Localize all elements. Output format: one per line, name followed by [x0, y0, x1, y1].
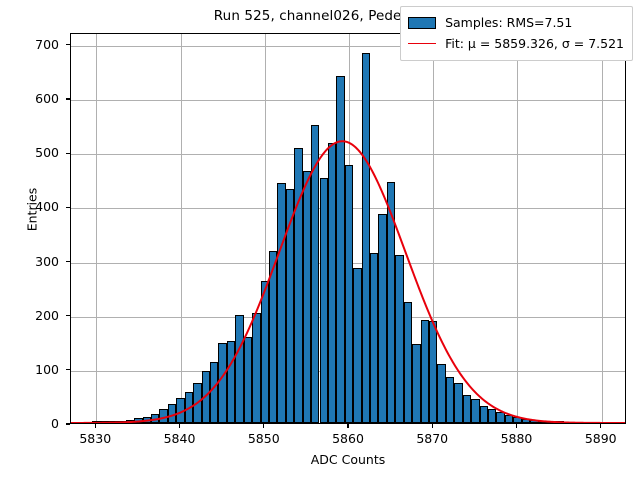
x-axis-tick-mark: [432, 424, 433, 428]
y-axis-tick-mark: [66, 369, 70, 370]
y-axis-tick-mark: [66, 153, 70, 154]
y-axis-tick-mark: [66, 207, 70, 208]
legend-label-samples: Samples: RMS=7.51: [445, 15, 572, 30]
legend: Samples: RMS=7.51 Fit: μ = 5859.326, σ =…: [400, 6, 633, 61]
gaussian-fit-curve: [71, 34, 625, 423]
y-axis-tick-label: 700: [0, 37, 59, 52]
y-axis-tick-label: 100: [0, 362, 59, 377]
x-axis-tick-mark: [179, 424, 180, 428]
x-axis-tick-mark: [263, 424, 264, 428]
x-axis-tick-label: 5860: [313, 431, 383, 446]
fit-curve-svg: [71, 34, 625, 423]
histogram-figure: Run 525, channel026, Pedestal 0100200300…: [0, 0, 640, 480]
x-axis-tick-label: 5840: [145, 431, 215, 446]
y-axis-tick-label: 200: [0, 308, 59, 323]
y-axis-tick-mark: [66, 44, 70, 45]
x-axis-tick-label: 5870: [397, 431, 467, 446]
x-axis-tick-mark: [347, 424, 348, 428]
legend-item-samples: Samples: RMS=7.51: [408, 12, 624, 33]
legend-line-icon: [408, 38, 436, 50]
y-axis-tick-label: 0: [0, 416, 59, 431]
x-axis-tick-label: 5890: [566, 431, 636, 446]
x-axis-tick-mark: [516, 424, 517, 428]
y-axis-tick-mark: [66, 423, 70, 424]
legend-label-fit: Fit: μ = 5859.326, σ = 7.521: [445, 36, 624, 51]
x-axis-tick-mark: [600, 424, 601, 428]
x-axis-tick-label: 5850: [229, 431, 299, 446]
x-axis-label: ADC Counts: [70, 452, 626, 467]
x-axis-tick-label: 5880: [481, 431, 551, 446]
legend-patch-icon: [408, 17, 436, 29]
y-axis-tick-mark: [66, 315, 70, 316]
y-axis-tick-mark: [66, 261, 70, 262]
y-axis-tick-label: 600: [0, 91, 59, 106]
y-axis-tick-mark: [66, 98, 70, 99]
y-axis-label: Entries: [25, 150, 40, 270]
x-axis-tick-label: 5830: [60, 431, 130, 446]
legend-item-fit: Fit: μ = 5859.326, σ = 7.521: [408, 33, 624, 54]
plot-area: [70, 33, 626, 424]
x-axis-tick-mark: [95, 424, 96, 428]
